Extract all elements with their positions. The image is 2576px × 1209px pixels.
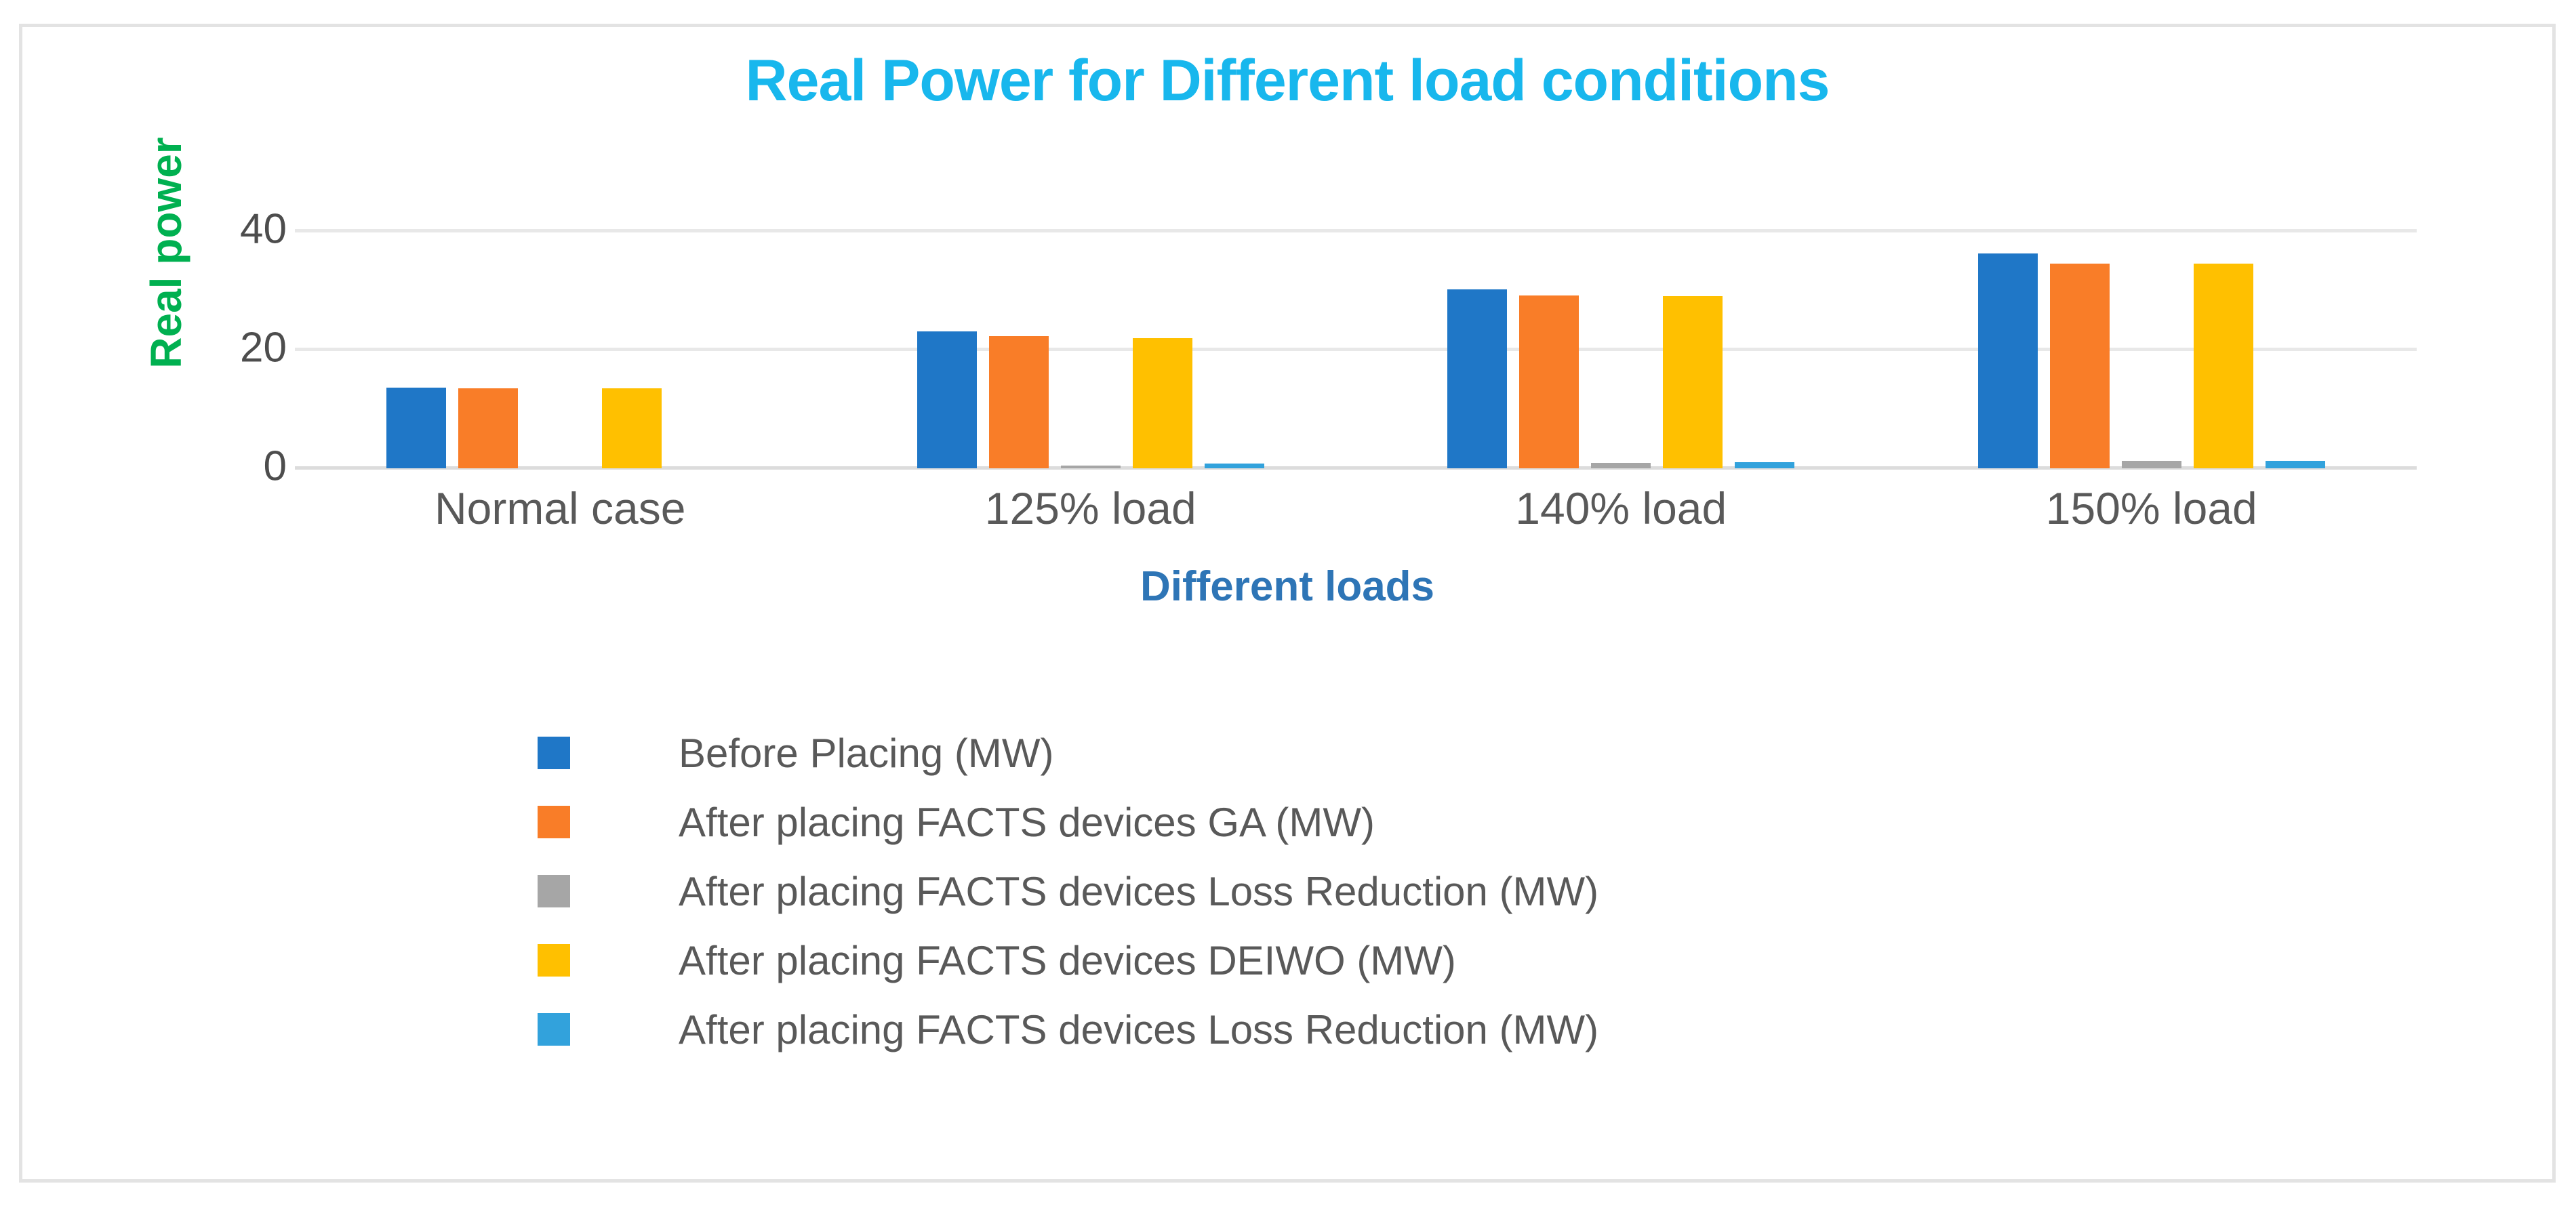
- bar-groups: [295, 229, 2417, 468]
- x-tick-label: 150% load: [1887, 483, 2417, 534]
- bar-group: [826, 229, 1356, 468]
- legend-label: After placing FACTS devices DEIWO (MW): [679, 937, 1456, 984]
- bar-group: [1887, 229, 2417, 468]
- bar-group: [1356, 229, 1887, 468]
- x-tick-label: 140% load: [1356, 483, 1887, 534]
- legend-swatch-icon: [538, 875, 570, 907]
- bar[interactable]: [1133, 338, 1192, 469]
- legend-item[interactable]: After placing FACTS devices DEIWO (MW): [538, 926, 2232, 995]
- legend-item[interactable]: Before Placing (MW): [538, 718, 2232, 787]
- legend-item[interactable]: After placing FACTS devices Loss Reducti…: [538, 995, 2232, 1064]
- x-axis-ticks: Normal case125% load140% load150% load: [295, 483, 2417, 534]
- legend-label: After placing FACTS devices Loss Reducti…: [679, 1006, 1598, 1053]
- legend-label: Before Placing (MW): [679, 730, 1053, 777]
- chart-legend: Before Placing (MW)After placing FACTS d…: [538, 718, 2232, 1064]
- bar[interactable]: [2194, 264, 2253, 468]
- chart-card: Real Power for Different load conditions…: [19, 24, 2556, 1183]
- y-tick-label: 40: [178, 205, 287, 253]
- bar[interactable]: [1591, 463, 1651, 468]
- x-tick-label: 125% load: [826, 483, 1356, 534]
- x-axis-title: Different loads: [22, 562, 2552, 611]
- chart-title: Real Power for Different load conditions: [22, 47, 2552, 115]
- y-axis-ticks: 40 20 0: [158, 229, 287, 470]
- legend-item[interactable]: After placing FACTS devices Loss Reducti…: [538, 857, 2232, 926]
- bar[interactable]: [2122, 461, 2181, 468]
- legend-label: After placing FACTS devices Loss Reducti…: [679, 868, 1598, 915]
- legend-label: After placing FACTS devices GA (MW): [679, 799, 1375, 846]
- bar[interactable]: [1447, 289, 1507, 468]
- bar[interactable]: [1205, 464, 1264, 468]
- x-tick-label: Normal case: [295, 483, 826, 534]
- legend-item[interactable]: After placing FACTS devices GA (MW): [538, 787, 2232, 857]
- y-tick-label: 0: [178, 443, 287, 491]
- bar[interactable]: [989, 336, 1049, 468]
- bar[interactable]: [1663, 296, 1723, 468]
- bar[interactable]: [917, 331, 977, 468]
- bar[interactable]: [1061, 466, 1121, 468]
- bar[interactable]: [1519, 295, 1579, 468]
- bar[interactable]: [602, 388, 662, 468]
- bar[interactable]: [386, 388, 446, 468]
- bar[interactable]: [458, 388, 518, 468]
- legend-swatch-icon: [538, 944, 570, 977]
- legend-swatch-icon: [538, 737, 570, 769]
- bar[interactable]: [2266, 461, 2325, 468]
- bar-group: [295, 229, 826, 468]
- bar[interactable]: [2050, 264, 2110, 468]
- legend-swatch-icon: [538, 806, 570, 838]
- y-tick-label: 20: [178, 324, 287, 372]
- legend-swatch-icon: [538, 1013, 570, 1046]
- bar[interactable]: [1735, 462, 1794, 468]
- bar[interactable]: [1978, 253, 2038, 468]
